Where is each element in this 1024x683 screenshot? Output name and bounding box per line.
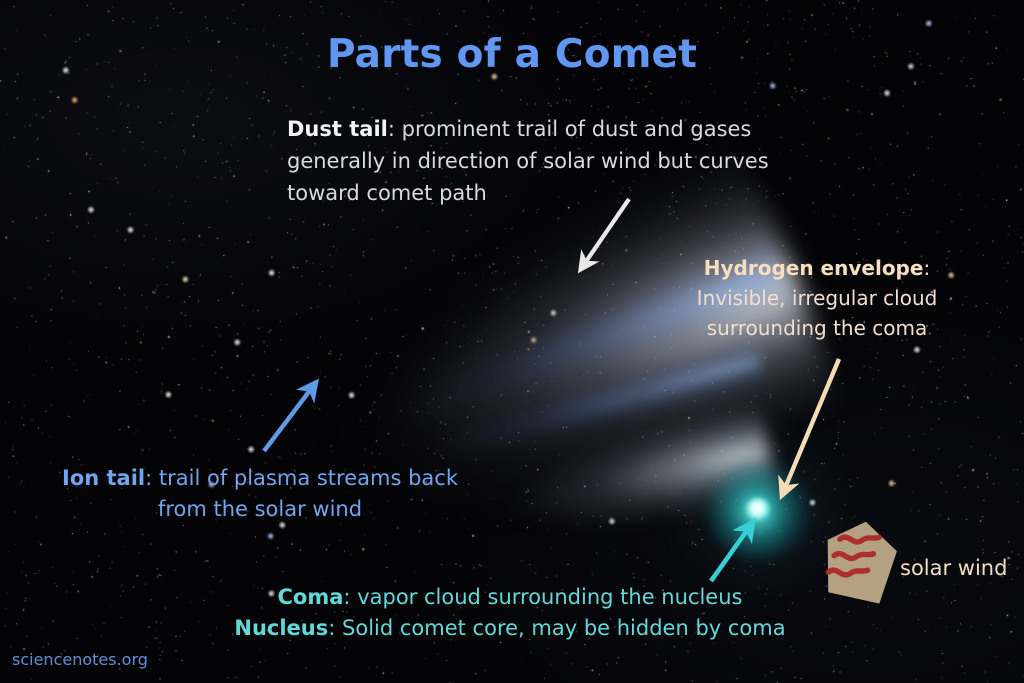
site-watermark: sciencenotes.org	[12, 650, 148, 669]
coma-label: Coma: vapor cloud surrounding the nucleu…	[160, 582, 860, 613]
page-title: Parts of a Comet	[0, 32, 1024, 77]
hydrogen-envelope-description: Invisible, irregular cloud surrounding t…	[697, 286, 944, 340]
coma-separator: :	[343, 585, 357, 609]
solar-wind-label: solar wind	[900, 553, 1010, 583]
nucleus-term: Nucleus	[234, 616, 328, 640]
nucleus-description: Solid comet core, may be hidden by coma	[342, 616, 786, 640]
ion-tail-term: Ion tail	[62, 466, 145, 490]
hydrogen-envelope-term: Hydrogen envelope	[704, 256, 924, 280]
ion-tail-label: Ion tail: trail of plasma streams back f…	[36, 463, 484, 525]
coma-description: vapor cloud surrounding the nucleus	[357, 585, 742, 609]
dust-tail-label: Dust tail: prominent trail of dust and g…	[287, 113, 827, 209]
nucleus-separator: :	[328, 616, 342, 640]
dust-tail-separator: :	[388, 117, 402, 141]
ion-tail-separator: :	[145, 466, 159, 490]
ion-tail-description: trail of plasma streams back from the so…	[158, 466, 465, 521]
coma-term: Coma	[278, 585, 344, 609]
comet-diagram-canvas: Parts of a Comet Dust tail: prominent tr…	[0, 0, 1024, 683]
dust-tail-term: Dust tail	[287, 117, 388, 141]
hydrogen-envelope-label: Hydrogen envelope:Invisible, irregular c…	[652, 253, 982, 343]
nucleus-label: Nucleus: Solid comet core, may be hidden…	[160, 613, 860, 644]
hydrogen-envelope-separator: :	[923, 256, 930, 280]
